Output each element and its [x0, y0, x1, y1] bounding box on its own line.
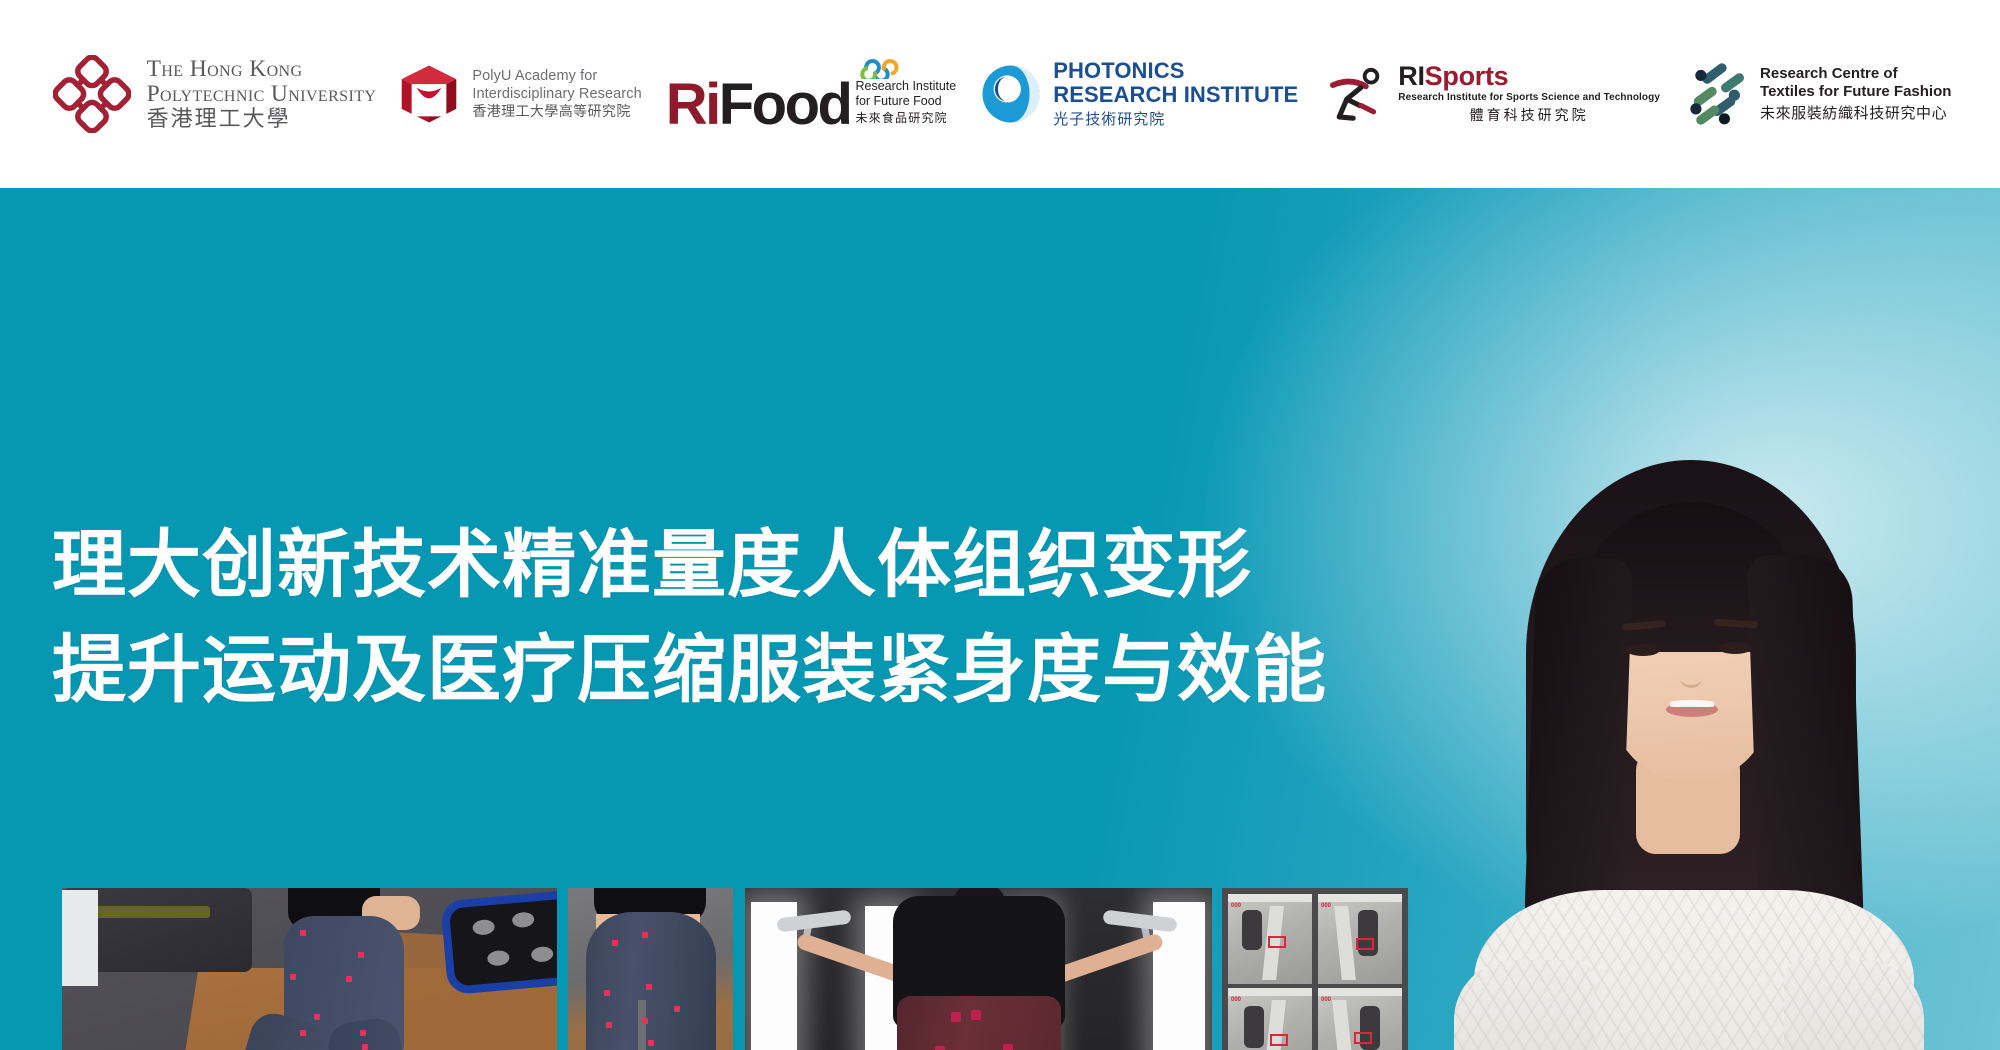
photonics-name-line2: RESEARCH INSTITUTE [1053, 83, 1298, 107]
risports-wordmark-ri: RI [1398, 61, 1424, 91]
rifood-wordmark-ri: Ri [666, 72, 719, 137]
hero-banner: 理大创新技术精准量度人体组织变形 提升运动及医疗压缩服装紧身度与效能 [0, 188, 2000, 1050]
photo-treadmill-gait [62, 888, 557, 1050]
pair-name-line1: PolyU Academy for [472, 67, 641, 86]
textile-weave-icon [1686, 63, 1748, 125]
polyu-name-line1: The Hong Kong [147, 57, 377, 82]
polyu-name-chinese: 香港理工大學 [147, 108, 377, 131]
risports-subtitle: Research Institute for Sports Science an… [1398, 92, 1660, 103]
headline-line-2: 提升运动及医疗压缩服装紧身度与效能 [52, 618, 1452, 723]
risports-name-chinese: 體育科技研究院 [1398, 105, 1660, 125]
pair-name-chinese: 香港理工大學高等研究院 [472, 104, 641, 122]
rifood-name-line2: for Future Food [855, 94, 956, 109]
logo-rifood: RiFood Research Institute for Future Foo… [666, 58, 956, 130]
running-figure-icon [1324, 66, 1390, 122]
pair-name-line2: Interdisciplinary Research [472, 85, 641, 104]
photo-body-composition-scale [568, 888, 733, 1050]
risports-wordmark: RISports [1398, 63, 1660, 90]
partner-logo-bar: The Hong Kong Polytechnic University 香港理… [0, 0, 2000, 188]
presenter-portrait [1418, 450, 1958, 1050]
page-title: 理大创新技术精准量度人体组织变形 提升运动及医疗压缩服装紧身度与效能 [52, 513, 1452, 723]
risports-wordmark-sports: Sports [1425, 61, 1509, 91]
photo-camera-monitor-grid: 000 000 000 000 [1222, 888, 1408, 1050]
photonics-eye-icon [980, 63, 1042, 125]
photonics-name-chinese: 光子技術研究院 [1053, 108, 1298, 129]
logo-polyu-academy-interdisciplinary-research: PolyU Academy for Interdisciplinary Rese… [398, 63, 641, 125]
logo-risports: RISports Research Institute for Sports S… [1324, 63, 1660, 125]
pair-cube-icon [398, 63, 460, 125]
polyu-name-line2: Polytechnic University [147, 82, 377, 107]
headline-line-1: 理大创新技术精准量度人体组织变形 [52, 513, 1452, 618]
photonics-name-line1: PHOTONICS [1053, 59, 1298, 83]
photo-3d-body-scanner [745, 888, 1212, 1050]
rctff-name-line1: Research Centre of [1760, 65, 1951, 83]
polyu-knot-icon [53, 55, 131, 133]
rctff-name-line2: Textiles for Future Fashion [1760, 83, 1951, 101]
logo-research-centre-textiles-future-fashion: Research Centre of Textiles for Future F… [1686, 63, 1951, 125]
infinity-icon [855, 58, 956, 79]
rifood-wordmark-food: Food [719, 72, 851, 137]
rifood-wordmark: RiFood [666, 81, 851, 130]
rifood-name-line1: Research Institute [855, 79, 956, 94]
rctff-name-chinese: 未來服裝紡織科技研究中心 [1760, 102, 1951, 123]
logo-photonics-research-institute: PHOTONICS RESEARCH INSTITUTE 光子技術研究院 [980, 59, 1298, 128]
logo-polyu: The Hong Kong Polytechnic University 香港理… [53, 55, 377, 133]
rifood-name-chinese: 未來食品研究院 [855, 109, 956, 126]
